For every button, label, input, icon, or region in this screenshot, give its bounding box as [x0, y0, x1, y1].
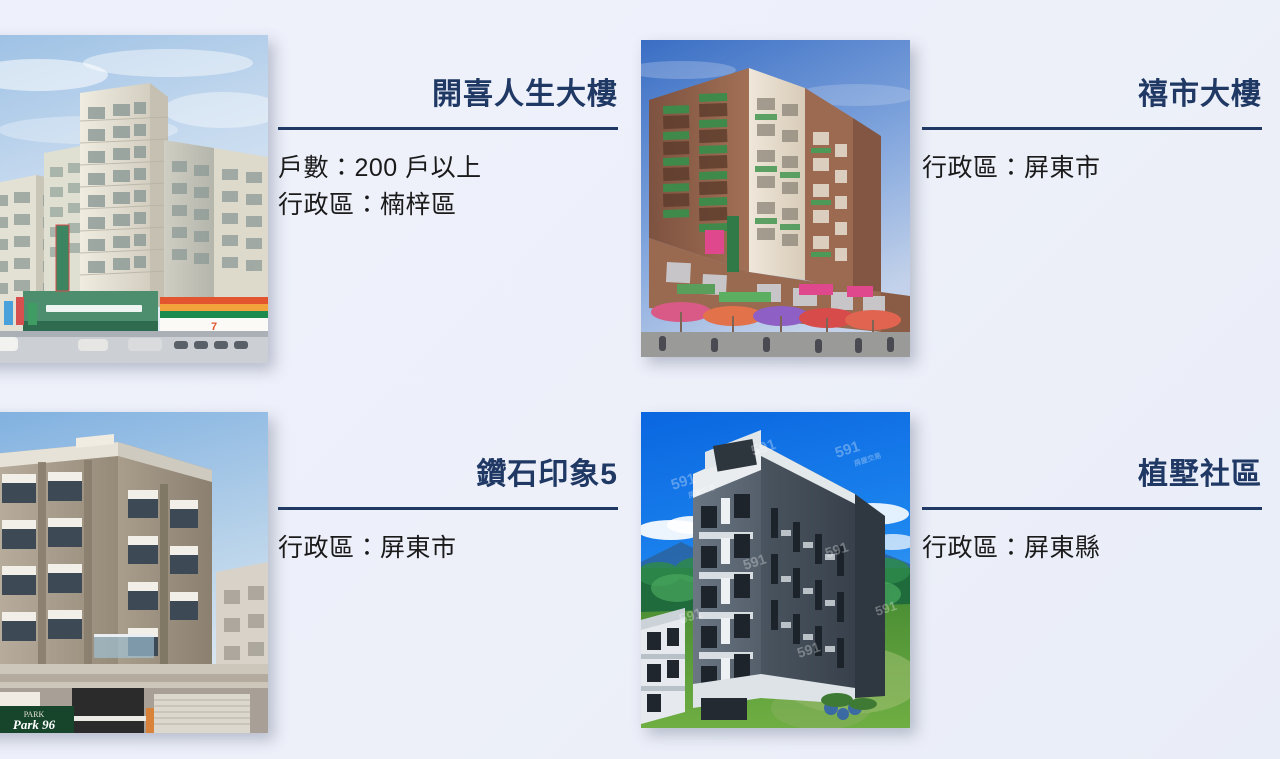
slide-canvas: 7 [0, 0, 1280, 759]
zhishu-photo-art: 591 房屋交易 591 591 房屋交易 591 591 591 591 59… [641, 412, 910, 728]
card-2-detail-district: 行政區：屏東市 [922, 150, 1262, 187]
building-photo-zhishu[interactable]: 591 房屋交易 591 591 房屋交易 591 591 591 591 59… [641, 412, 910, 728]
card-2-divider [922, 127, 1262, 130]
card-4-detail-district: 行政區：屏東縣 [922, 530, 1262, 567]
card-1-detail-households: 戶數：200 戶以上 [278, 150, 618, 187]
card-1-divider [278, 127, 618, 130]
xishi-photo-art [641, 40, 910, 357]
card-2-text-block: 禧市大樓 行政區：屏東市 [922, 78, 1262, 187]
card-3-text-block: 鑽石印象5 行政區：屏東市 [278, 458, 618, 567]
kaixi-photo-art: 7 [0, 35, 268, 363]
card-1-title: 開喜人生大樓 [278, 78, 618, 111]
building-photo-diamond5[interactable]: PARK Park 96 [0, 412, 268, 733]
building-photo-xishi[interactable] [641, 40, 910, 357]
card-1-detail-district: 行政區：楠梓區 [278, 187, 618, 224]
card-4-divider [922, 507, 1262, 510]
card-4-text-block: 植墅社區 行政區：屏東縣 [922, 458, 1262, 567]
card-1-text-block: 開喜人生大樓 戶數：200 戶以上 行政區：楠梓區 [278, 78, 618, 223]
card-2-title: 禧市大樓 [922, 78, 1262, 111]
card-3-divider [278, 507, 618, 510]
card-3-title: 鑽石印象5 [278, 458, 618, 491]
card-3-detail-district: 行政區：屏東市 [278, 530, 618, 567]
card-4-title: 植墅社區 [922, 458, 1262, 491]
building-photo-kaixi[interactable]: 7 [0, 35, 268, 363]
svg-text:Park 96: Park 96 [13, 717, 56, 732]
diamond5-photo-art: PARK Park 96 [0, 412, 268, 733]
